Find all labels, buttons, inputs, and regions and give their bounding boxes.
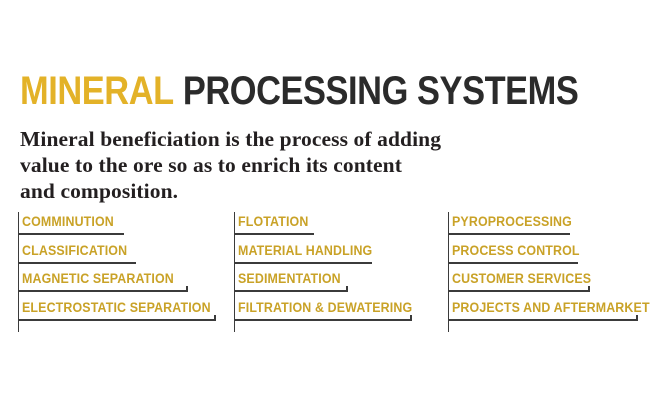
link-end-tick bbox=[186, 286, 188, 290]
page-title-rest: PROCESSING SYSTEMS bbox=[183, 69, 579, 113]
page-root: MINERAL PROCESSING SYSTEMS Mineral benef… bbox=[0, 0, 650, 400]
link-underline bbox=[448, 233, 570, 235]
link-underline bbox=[448, 290, 590, 292]
link-underline bbox=[18, 233, 124, 235]
link-label: FLOTATION bbox=[238, 215, 308, 229]
column-spine bbox=[234, 212, 235, 332]
link-underline bbox=[18, 319, 216, 321]
link-underline bbox=[448, 262, 578, 264]
link-underline bbox=[234, 233, 314, 235]
link-end-tick bbox=[588, 286, 590, 290]
page-subtitle-line-3: and composition. bbox=[20, 178, 580, 204]
page-title-space bbox=[174, 69, 183, 113]
link-label: CLASSIFICATION bbox=[22, 244, 127, 258]
link-columns: COMMINUTION CLASSIFICATION MAGNETIC SEPA… bbox=[0, 210, 650, 335]
link-label: SEDIMENTATION bbox=[238, 272, 341, 286]
page-title: MINERAL PROCESSING SYSTEMS bbox=[20, 71, 578, 111]
link-underline bbox=[234, 319, 412, 321]
link-label: MATERIAL HANDLING bbox=[238, 244, 372, 258]
link-underline bbox=[234, 290, 348, 292]
link-label: MAGNETIC SEPARATION bbox=[22, 272, 174, 286]
link-end-tick bbox=[214, 315, 216, 319]
link-label: ELECTROSTATIC SEPARATION bbox=[22, 301, 211, 315]
link-underline bbox=[18, 290, 188, 292]
link-label: COMMINUTION bbox=[22, 215, 114, 229]
link-end-tick bbox=[636, 315, 638, 319]
link-underline bbox=[448, 319, 638, 321]
page-subtitle-line-1: Mineral beneficiation is the process of … bbox=[20, 126, 580, 152]
link-label: PROCESS CONTROL bbox=[452, 244, 580, 258]
column-spine bbox=[18, 212, 19, 332]
link-label: FILTRATION & DEWATERING bbox=[238, 301, 412, 315]
page-subtitle: Mineral beneficiation is the process of … bbox=[20, 126, 580, 204]
link-underline bbox=[18, 262, 136, 264]
link-underline bbox=[234, 262, 372, 264]
page-subtitle-line-2: value to the ore so as to enrich its con… bbox=[20, 152, 580, 178]
page-title-highlight: MINERAL bbox=[20, 69, 174, 113]
link-end-tick bbox=[410, 315, 412, 319]
link-label: PROJECTS AND AFTERMARKET bbox=[452, 301, 650, 315]
link-end-tick bbox=[346, 286, 348, 290]
link-label: PYROPROCESSING bbox=[452, 215, 572, 229]
column-spine bbox=[448, 212, 449, 332]
link-label: CUSTOMER SERVICES bbox=[452, 272, 591, 286]
